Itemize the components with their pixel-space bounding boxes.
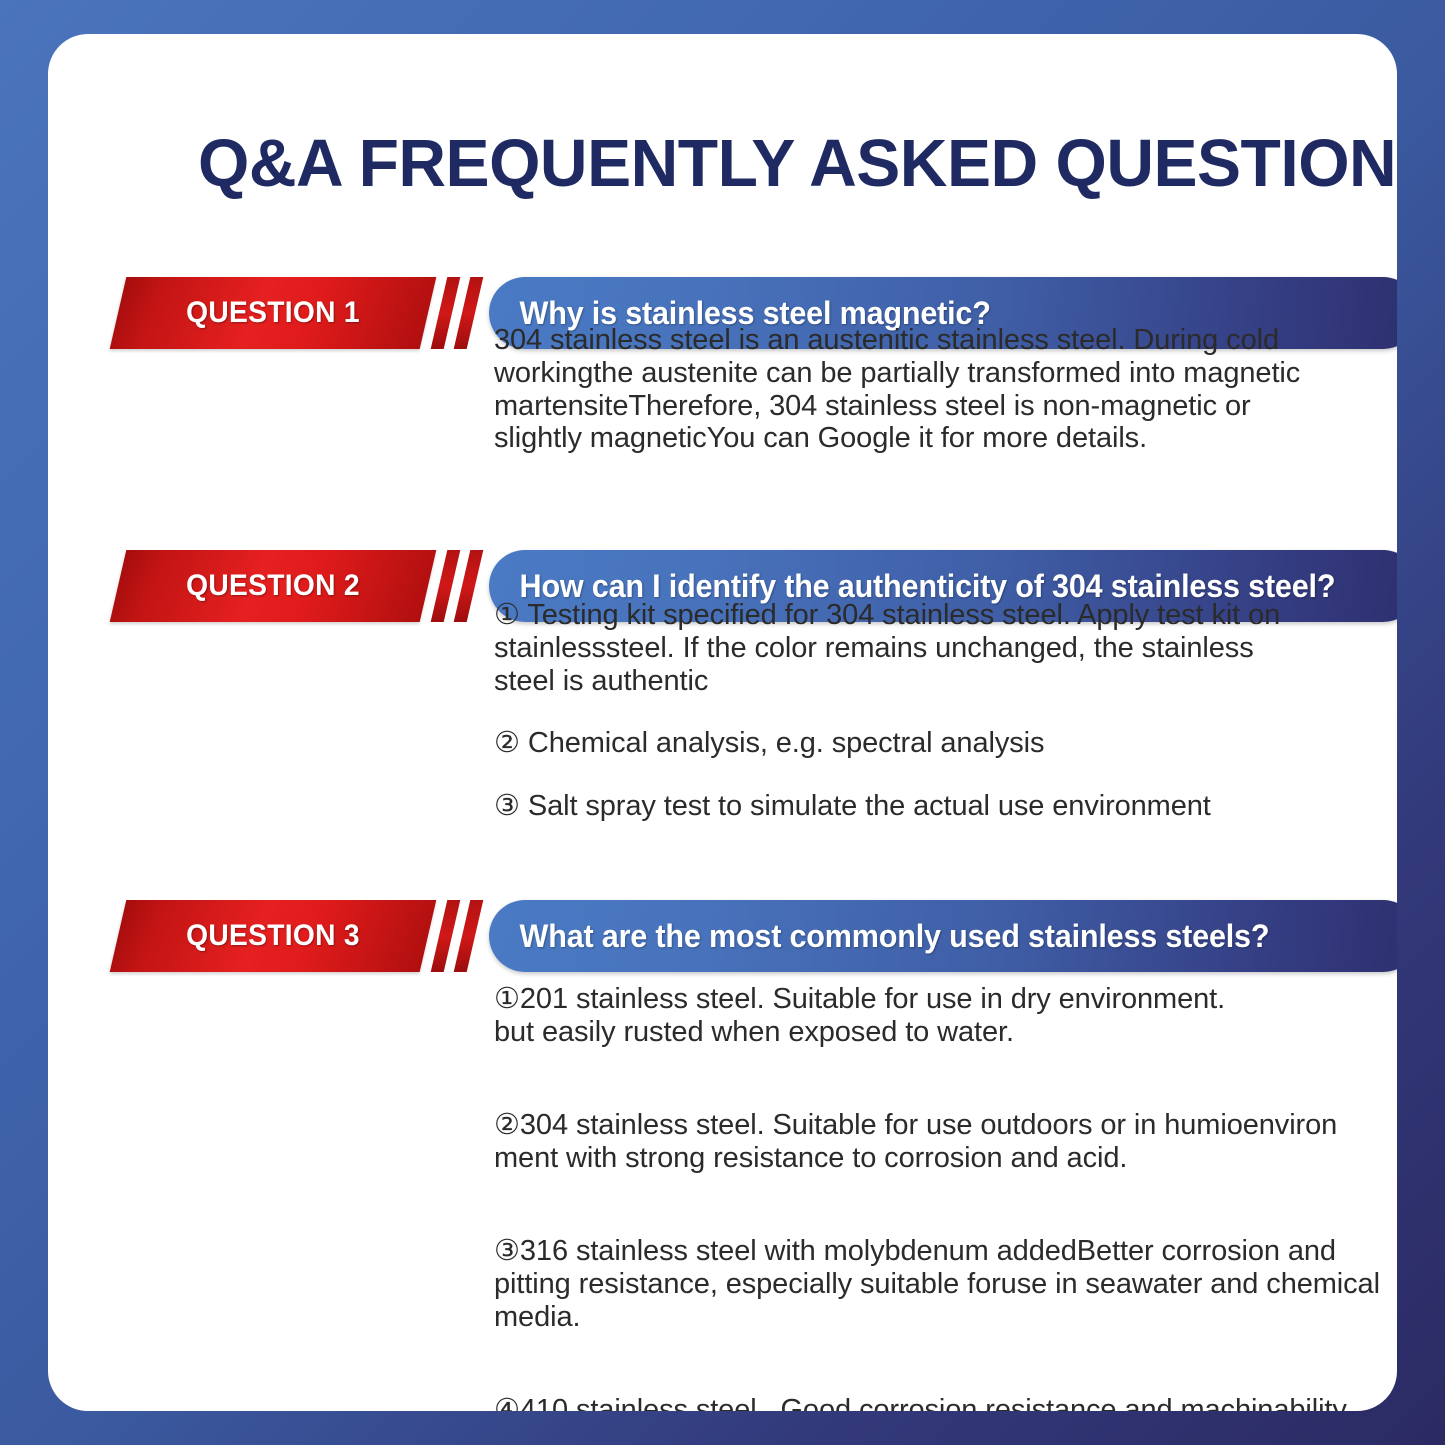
answer-paragraph: ③316 stainless steel with molybdenum add… <box>494 1235 1384 1333</box>
answer-paragraph: ③ Salt spray test to simulate the actual… <box>494 790 1304 823</box>
question-badge-1 <box>110 277 437 349</box>
question-badge-2 <box>110 550 437 622</box>
answer-paragraph: ①201 stainless steel. Suitable for use i… <box>494 983 1384 1049</box>
faq-card: Q&A FREQUENTLY ASKED QUESTIONS QUESTION … <box>48 34 1397 1411</box>
answer-paragraph: ②304 stainless steel. Suitable for use o… <box>494 1109 1384 1175</box>
page-title: Q&A FREQUENTLY ASKED QUESTIONS <box>198 130 1341 197</box>
slash-icon-3b <box>454 900 484 972</box>
answer-body-3: ①201 stainless steel. Suitable for use i… <box>494 950 1384 1411</box>
answer-body-2: ① Testing kit specified for 304 stainles… <box>494 599 1304 823</box>
answer-body-1: 304 stainless steel is an austenitic sta… <box>494 324 1344 455</box>
question-badge-3 <box>110 900 437 972</box>
slash-icon-2b <box>454 550 484 622</box>
answer-paragraph: ② Chemical analysis, e.g. spectral analy… <box>494 727 1304 760</box>
answer-paragraph: 304 stainless steel is an austenitic sta… <box>494 324 1344 455</box>
slash-icon-1b <box>454 277 484 349</box>
answer-paragraph: ① Testing kit specified for 304 stainles… <box>494 599 1304 697</box>
answer-paragraph: ④410 stainless steel . Good corrosion re… <box>494 1394 1384 1411</box>
